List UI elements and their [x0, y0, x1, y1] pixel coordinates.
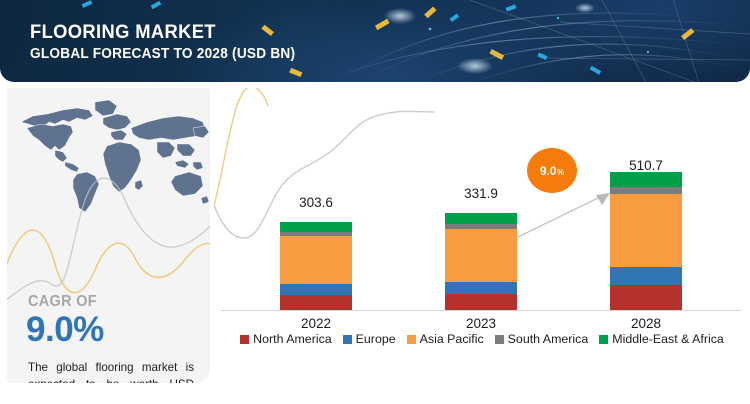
x-label-2028: 2028	[596, 316, 696, 331]
page-subtitle: GLOBAL FORECAST TO 2028 (USD BN)	[30, 46, 295, 62]
segment-europe-2023	[445, 282, 517, 294]
cagr-label: CAGR OF	[28, 293, 97, 311]
plot-area: 303.6 331.9 510.7	[214, 88, 750, 404]
stacked-bar-chart: 303.6 331.9 510.7	[214, 88, 750, 404]
segment-asia-pacific-2023	[445, 229, 517, 282]
chart-legend: North America Europe Asia Pacific South …	[214, 332, 750, 346]
summary-description-text: The global flooring market is expected t…	[28, 361, 194, 383]
bar-2022[interactable]	[280, 222, 352, 310]
cagr-badge: 9.0%	[527, 148, 577, 193]
segment-europe-2028	[610, 267, 682, 285]
legend-swatch-south-america	[495, 335, 504, 344]
segment-middle-east-africa-2023	[445, 213, 517, 224]
x-axis-line	[220, 310, 741, 311]
segment-asia-pacific-2022	[280, 236, 352, 284]
cagr-value: 9.0%	[26, 312, 104, 347]
cagr-badge-value: 9.0	[540, 164, 557, 178]
segment-north-america-2023	[445, 294, 517, 310]
legend-swatch-north-america	[240, 335, 249, 344]
infographic-root: FLOORING MARKET GLOBAL FORECAST TO 2028 …	[0, 0, 750, 404]
world-map	[7, 88, 210, 218]
segment-north-america-2022	[280, 295, 352, 310]
cagr-badge-label: 9.0%	[540, 165, 564, 177]
legend-swatch-europe	[343, 335, 352, 344]
legend-item-north-america[interactable]: North America	[240, 332, 332, 346]
summary-description: The global flooring market is expected t…	[28, 360, 194, 383]
legend-item-south-america[interactable]: South America	[495, 332, 589, 346]
segment-north-america-2028	[610, 285, 682, 310]
bar-value-2028: 510.7	[596, 158, 696, 173]
legend-label-middle-east-africa: Middle-East & Africa	[612, 332, 724, 346]
legend-label-europe: Europe	[356, 332, 396, 346]
segment-middle-east-africa-2022	[280, 222, 352, 232]
legend-swatch-middle-east-africa	[599, 335, 608, 344]
segment-europe-2022	[280, 284, 352, 295]
cagr-arrow	[514, 183, 634, 243]
page-title: FLOORING MARKET	[30, 21, 216, 44]
bar-2023[interactable]	[445, 213, 517, 310]
legend-item-middle-east-africa[interactable]: Middle-East & Africa	[599, 332, 724, 346]
legend-item-europe[interactable]: Europe	[343, 332, 396, 346]
header-banner: FLOORING MARKET GLOBAL FORECAST TO 2028 …	[0, 0, 750, 82]
legend-label-asia-pacific: Asia Pacific	[420, 332, 484, 346]
legend-label-south-america: South America	[508, 332, 589, 346]
world-map-graphic	[7, 88, 210, 220]
cagr-badge-unit: %	[557, 167, 565, 177]
legend-label-north-america: North America	[253, 332, 332, 346]
legend-swatch-asia-pacific	[407, 335, 416, 344]
summary-card: CAGR OF 9.0% The global flooring market …	[7, 88, 210, 383]
x-label-2022: 2022	[266, 316, 366, 331]
x-label-2023: 2023	[431, 316, 531, 331]
legend-item-asia-pacific[interactable]: Asia Pacific	[407, 332, 484, 346]
bar-value-2022: 303.6	[266, 195, 366, 210]
